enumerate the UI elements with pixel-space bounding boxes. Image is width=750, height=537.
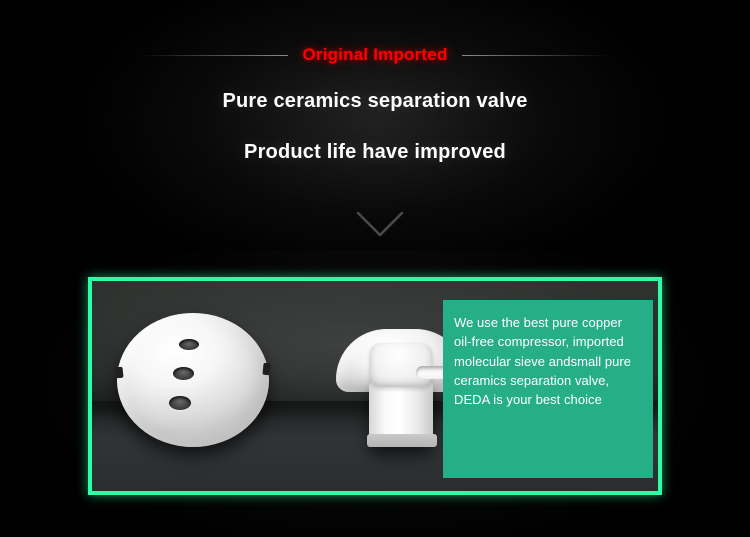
photo-frame: We use the best pure copper oil-free com… [88, 277, 662, 495]
rotor-foot [367, 434, 437, 447]
chevron-down-icon [355, 208, 405, 240]
product-banner: Original Imported Pure ceramics separati… [0, 0, 750, 537]
copy-panel: We use the best pure copper oil-free com… [443, 300, 653, 478]
ceramic-disc [117, 313, 269, 447]
disc-notch-right [262, 363, 270, 376]
divider-line-left [140, 55, 288, 56]
disc-hole-top [179, 339, 199, 350]
disc-hole-bottom [169, 396, 191, 410]
headline-secondary: Product life have improved [0, 141, 750, 164]
divider-line-right [462, 55, 610, 56]
rotor-boss [370, 343, 432, 387]
copy-panel-text: We use the best pure copper oil-free com… [454, 313, 642, 409]
eyebrow-row: Original Imported [0, 42, 750, 68]
disc-notch-left [115, 367, 123, 379]
disc-hole-middle [173, 367, 194, 380]
eyebrow-text: Original Imported [302, 45, 447, 65]
headline-primary: Pure ceramics separation valve [0, 90, 750, 113]
